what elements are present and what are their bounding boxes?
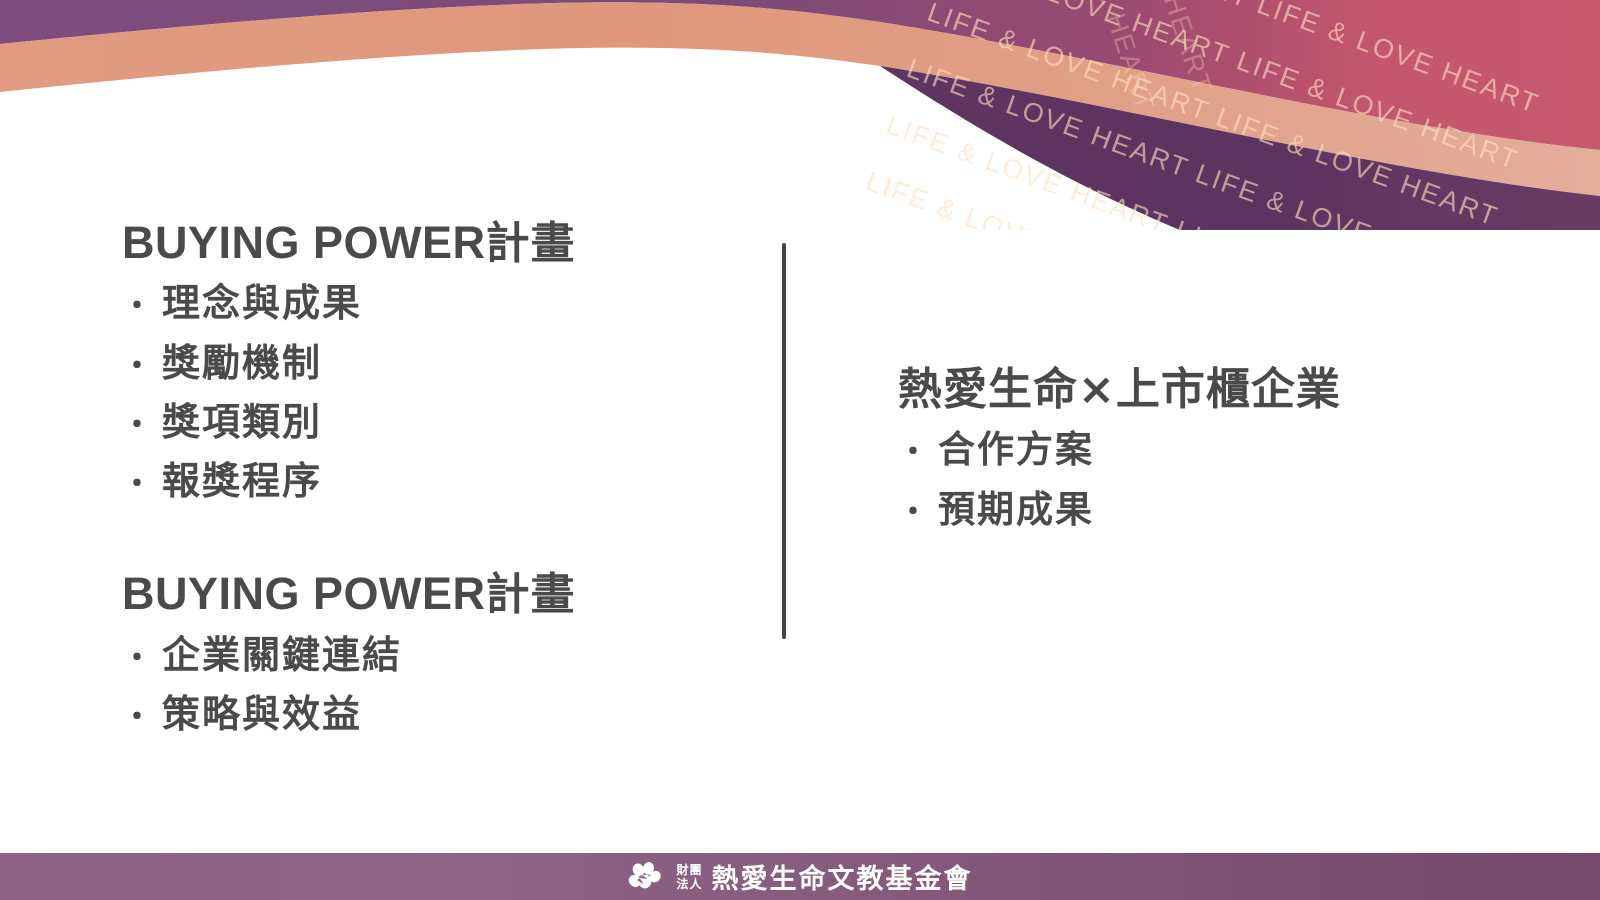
list-item-label: 獎勵機制	[162, 334, 322, 393]
footer-org-prefix-line2: 法人	[676, 877, 702, 891]
right-block-list: ・合作方案 ・預期成果	[898, 420, 1498, 540]
list-item-label: 策略與效益	[162, 685, 362, 744]
left-block-1-heading-en: BUYING POWER	[122, 217, 486, 268]
bullet-dot-icon: ・	[122, 636, 162, 683]
slide-root: LIFE & LOVE HEART LIFE & LOVE HEART LIFE…	[0, 0, 1600, 900]
slide-content: BUYING POWER計畫 ・理念與成果 ・獎勵機制 ・獎項類別 ・報獎程序 …	[0, 0, 1600, 900]
list-item: ・理念與成果	[122, 274, 742, 333]
right-column: 熱愛生命×上市櫃企業 ・合作方案 ・預期成果	[898, 365, 1498, 540]
bullet-dot-icon: ・	[122, 344, 162, 391]
list-item-label: 理念與成果	[162, 274, 362, 333]
left-block-1-heading: BUYING POWER計畫	[122, 218, 742, 268]
left-block-2-list: ・企業關鍵連結 ・策略與效益	[122, 626, 742, 745]
left-block-2-heading: BUYING POWER計畫	[122, 569, 742, 619]
flower-logo-icon	[627, 861, 667, 893]
footer-org-name: 熱愛生命文教基金會	[712, 857, 973, 896]
list-item-label: 企業關鍵連結	[162, 626, 402, 685]
list-item: ・獎項類別	[122, 393, 742, 452]
bullet-dot-icon: ・	[898, 429, 938, 478]
left-block-2: BUYING POWER計畫 ・企業關鍵連結 ・策略與效益	[122, 569, 742, 744]
bullet-dot-icon: ・	[122, 695, 162, 742]
bullet-dot-icon: ・	[122, 284, 162, 331]
left-block-1: BUYING POWER計畫 ・理念與成果 ・獎勵機制 ・獎項類別 ・報獎程序	[122, 218, 742, 511]
list-item: ・報獎程序	[122, 452, 742, 511]
column-divider	[782, 243, 786, 639]
bullet-dot-icon: ・	[898, 489, 938, 538]
footer-org-prefix: 財團 法人	[676, 863, 702, 891]
bullet-dot-icon: ・	[122, 462, 162, 509]
list-item: ・合作方案	[898, 420, 1498, 480]
bullet-dot-icon: ・	[122, 403, 162, 450]
list-item: ・預期成果	[898, 480, 1498, 540]
footer-branding: 財團 法人 熱愛生命文教基金會	[627, 857, 972, 896]
left-block-1-heading-cjk: 計畫	[486, 218, 576, 269]
list-item: ・獎勵機制	[122, 334, 742, 393]
list-item-label: 獎項類別	[162, 393, 322, 452]
list-item-label: 預期成果	[938, 480, 1094, 540]
list-item-label: 合作方案	[938, 420, 1094, 480]
list-item: ・策略與效益	[122, 685, 742, 744]
right-block-heading: 熱愛生命×上市櫃企業	[898, 365, 1498, 414]
left-column: BUYING POWER計畫 ・理念與成果 ・獎勵機制 ・獎項類別 ・報獎程序 …	[122, 218, 742, 744]
block-spacer	[122, 511, 742, 569]
left-block-2-heading-en: BUYING POWER	[122, 568, 486, 619]
list-item: ・企業關鍵連結	[122, 626, 742, 685]
footer-org-prefix-line1: 財團	[676, 863, 702, 877]
left-block-2-heading-cjk: 計畫	[486, 569, 576, 620]
list-item-label: 報獎程序	[162, 452, 322, 511]
left-block-1-list: ・理念與成果 ・獎勵機制 ・獎項類別 ・報獎程序	[122, 274, 742, 511]
footer-bar: 財團 法人 熱愛生命文教基金會	[0, 853, 1600, 900]
